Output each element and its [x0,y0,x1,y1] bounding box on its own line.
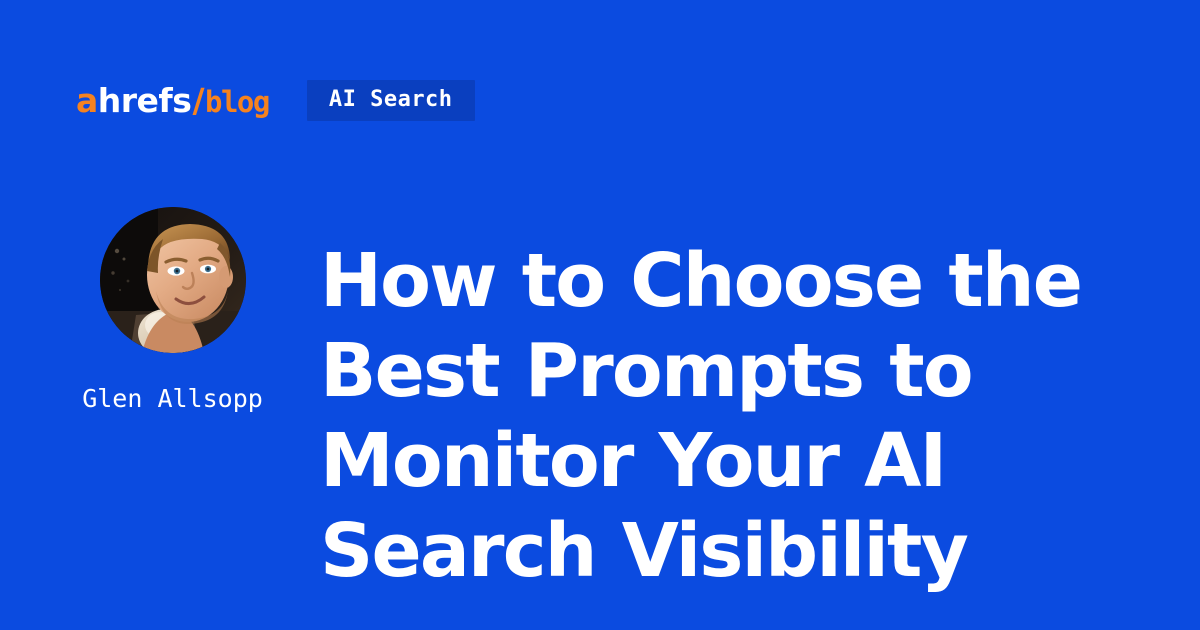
author-block: Glen Allsopp [56,207,289,411]
ahrefs-blog-logo[interactable]: a hrefs / blog [76,84,269,117]
page-title: How to Choose the Best Prompts to Monito… [320,236,1140,596]
category-badge-ai-search[interactable]: AI Search [307,80,475,121]
logo-text-hrefs: hrefs [98,84,192,117]
card-header: a hrefs / blog AI Search [76,78,475,122]
logo-slash-divider: / [191,84,205,117]
social-share-card: a hrefs / blog AI Search [0,0,1200,630]
logo-letter-a: a [76,84,98,117]
avatar[interactable] [100,207,246,353]
avatar-photo-icon [100,207,246,353]
author-name: Glen Allsopp [82,386,263,411]
logo-text-blog: blog [205,88,269,117]
